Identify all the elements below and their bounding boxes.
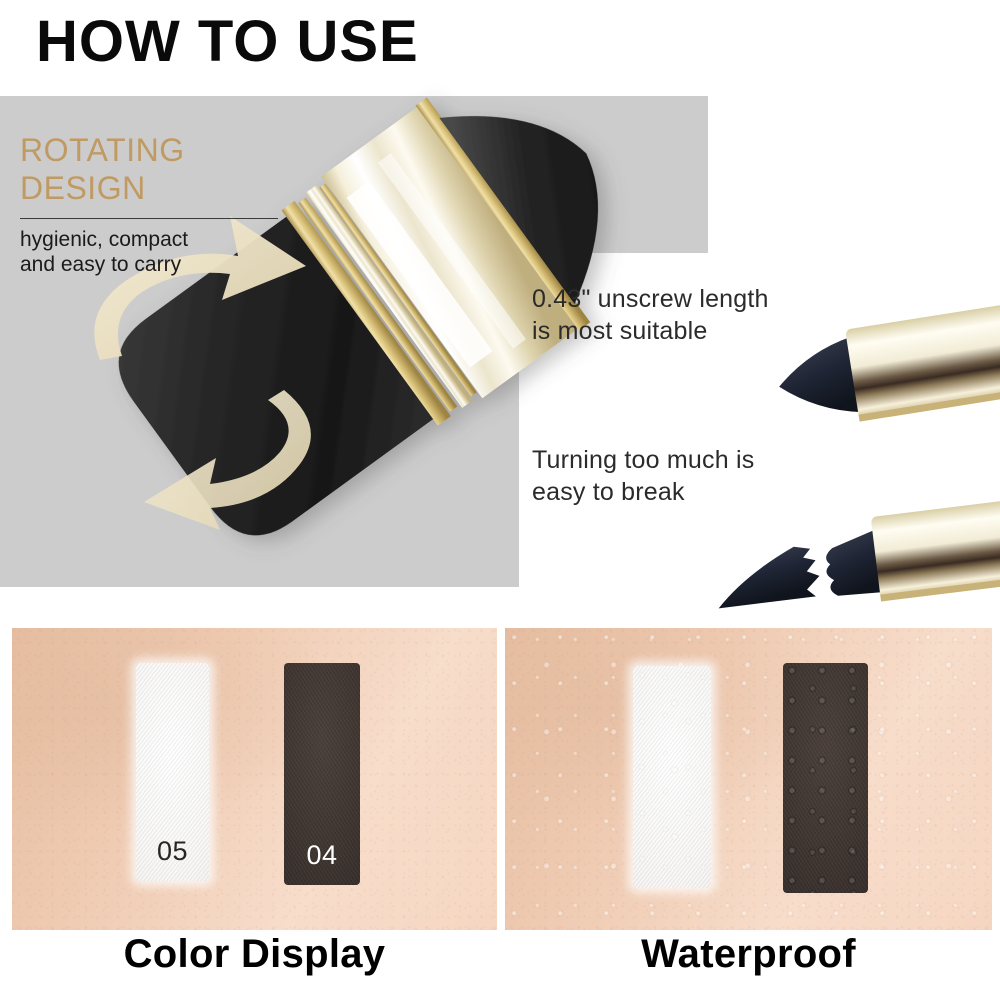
callout-1-line-1: 0.43" unscrew length <box>532 283 769 315</box>
swatch-dark-waterproof <box>783 663 868 893</box>
broken-tip-fragment <box>712 544 822 608</box>
callout-2-line-1: Turning too much is <box>532 444 754 476</box>
swatch-label-05: 05 <box>136 836 209 867</box>
swatch-white-waterproof <box>633 666 711 888</box>
water-droplets-overlay <box>505 628 992 930</box>
swatch-label-04: 04 <box>284 840 360 871</box>
swatch-05-white: 05 <box>136 663 209 881</box>
caption-waterproof: Waterproof <box>505 932 992 977</box>
swatch-droplets <box>633 666 711 888</box>
heading-line-1: ROTATING <box>20 132 320 170</box>
skin-texture-overlay <box>12 628 497 930</box>
callout-unscrew-length: 0.43" unscrew length is most suitable <box>532 283 769 347</box>
product-illustration-intact-pencil <box>760 296 1000 446</box>
divider-rule <box>20 218 278 219</box>
swatch-droplets-dark <box>783 663 868 893</box>
rotating-design-text-block: ROTATING DESIGN hygienic, compact and ea… <box>20 132 320 278</box>
rotating-design-subtext: hygienic, compact and easy to carry <box>20 227 320 278</box>
swatch-photo-color-display: 05 04 <box>12 628 497 930</box>
rotating-design-heading: ROTATING DESIGN <box>20 132 320 208</box>
caption-color-display: Color Display <box>12 932 497 977</box>
subtext-line-1: hygienic, compact <box>20 227 320 253</box>
swatch-photo-waterproof <box>505 628 992 930</box>
heading-line-2: DESIGN <box>20 170 320 208</box>
product-illustration-broken-pencil <box>700 492 1000 632</box>
callout-1-line-2: is most suitable <box>532 315 769 347</box>
swatch-04-dark: 04 <box>284 663 360 885</box>
subtext-line-2: and easy to carry <box>20 252 320 278</box>
